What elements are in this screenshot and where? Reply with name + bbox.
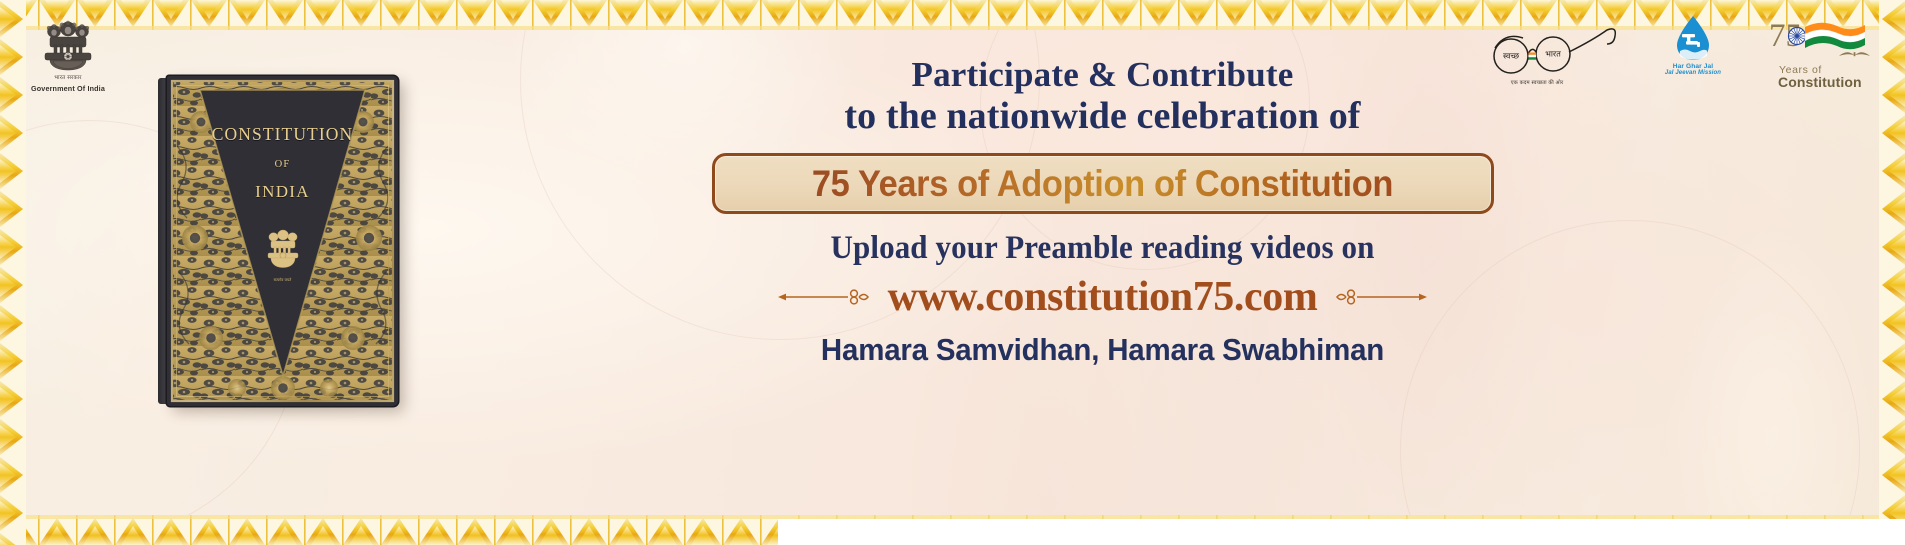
- headline-line-2: to the nationwide celebration of: [560, 96, 1645, 137]
- fleuron-ornament-right-icon: [1329, 285, 1429, 309]
- water-droplet-tap-icon: [1673, 14, 1713, 62]
- government-of-india-emblem: भारत सरकार Government Of India: [22, 20, 114, 93]
- highlight-pill: 75 Years of Adoption of Constitution: [712, 153, 1494, 214]
- book-title-block: CONSTITUTION OF INDIA: [167, 124, 398, 202]
- constitution75-campaign-banner: भारत सरकार Government Of India: [0, 0, 1905, 545]
- website-url-row: www.constitution75.com: [560, 273, 1645, 321]
- book-cover: CONSTITUTION OF INDIA: [167, 76, 398, 406]
- highlight-text: 75 Years of Adoption of Constitution: [812, 163, 1393, 205]
- har-ghar-jal-caption-1: Har Ghar Jal: [1661, 63, 1725, 70]
- book-title-line3: INDIA: [167, 182, 398, 202]
- tricolour-flag-chakra-book-icon: 75: [1767, 14, 1879, 60]
- tagline: Hamara Samvidhan, Hamara Swabhiman: [587, 332, 1618, 368]
- bottom-decorative-border: [0, 515, 1905, 545]
- ashoka-pillar-emblem-icon: [37, 20, 99, 72]
- har-ghar-jal-caption-2: Jal Jeevan Mission: [1661, 70, 1725, 76]
- emblem-english-label: Government Of India: [22, 84, 114, 93]
- constitution-of-india-book: CONSTITUTION OF INDIA: [158, 76, 398, 406]
- book-title-line1: CONSTITUTION: [167, 124, 398, 145]
- banner-copy-block: Participate & Contribute to the nationwi…: [560, 56, 1645, 368]
- ashoka-pillar-emblem-icon: [263, 228, 303, 272]
- subheadline: Upload your Preamble reading videos on: [593, 230, 1613, 267]
- emblem-hindi-label: भारत सरकार: [22, 73, 114, 81]
- 75-years-of-constitution-logo: 75: [1767, 14, 1879, 90]
- right-decorative-border: [1879, 0, 1905, 545]
- website-url[interactable]: www.constitution75.com: [888, 273, 1318, 321]
- book-ashoka-emblem: सत्यमेव जयते: [263, 228, 303, 283]
- har-ghar-jal-logo: Har Ghar Jal Jal Jeevan Mission: [1661, 14, 1725, 76]
- book-title-line2: OF: [167, 159, 398, 170]
- book-emblem-caption: सत्यमेव जयते: [263, 278, 303, 283]
- logo-75-caption-2: Constitution: [1778, 74, 1879, 90]
- fleuron-ornament-left-icon: [776, 285, 876, 309]
- headline-line-1: Participate & Contribute: [560, 56, 1645, 93]
- screenshot-crop-strip: [778, 519, 1905, 545]
